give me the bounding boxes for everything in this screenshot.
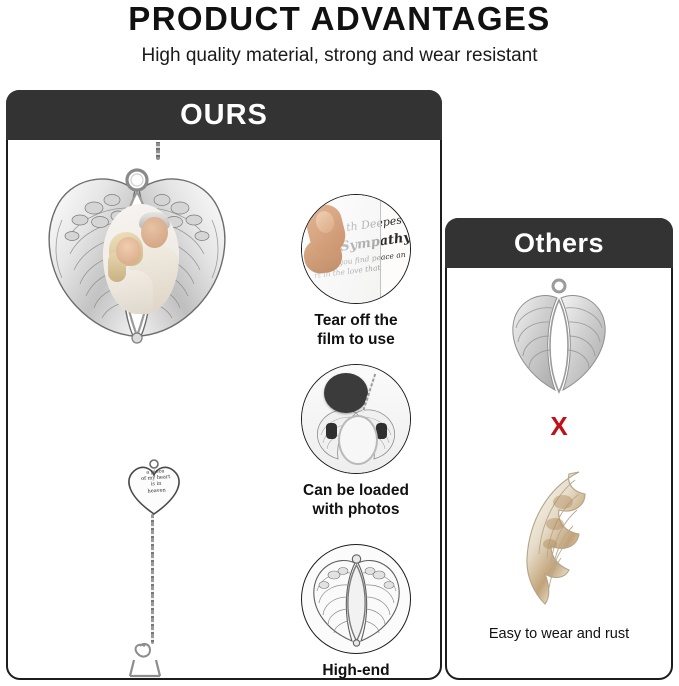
others-panel: Others [445, 218, 673, 680]
others-panel-label: Others [514, 228, 604, 259]
feature-silver-plating: High-end silver plating [270, 544, 440, 678]
x-mark-icon: X [447, 413, 671, 439]
feature-caption: Tear off the film to use [270, 311, 440, 349]
feature-tear-off-film: th Deepest Sympathy May you find peace a… [270, 194, 440, 349]
worn-rusted-single-wing [493, 466, 625, 616]
hand-peeling-film-photo: th Deepest Sympathy May you find peace a… [301, 194, 411, 304]
crystal-ball-prism [50, 640, 240, 678]
advertisement-canvas: PRODUCT ADVANTAGES High quality material… [0, 0, 679, 686]
others-item-rusted-wing: Easy to wear and rust [447, 466, 671, 643]
plain-angel-wings-pendant [495, 274, 623, 406]
page-title: PRODUCT ADVANTAGES [0, 2, 679, 36]
page-subtitle: High quality material, strong and wear r… [0, 44, 679, 68]
ours-panel-label: OURS [180, 99, 268, 132]
heart-charm [118, 458, 190, 516]
feature-caption: High-end silver plating [270, 661, 440, 678]
others-item-caption: Easy to wear and rust [447, 625, 671, 643]
feature-caption: Can be loaded with photos [270, 481, 440, 519]
feature-callouts: th Deepest Sympathy May you find peace a… [270, 142, 440, 678]
hanging-chain-icon [156, 142, 160, 160]
ours-panel-header: OURS [6, 90, 442, 140]
others-panel-body: X [447, 270, 671, 678]
others-panel-header: Others [445, 218, 673, 268]
ours-panel-body: a piece of my heart is in heaven [8, 142, 440, 678]
couple-photo [103, 204, 179, 314]
photo-disc-with-wings-photo [301, 364, 411, 474]
silver-plated-wings-lineart [301, 544, 411, 654]
ours-panel: OURS [6, 90, 442, 680]
link-chain-icon [151, 514, 154, 644]
others-item-wings-pendant: X [447, 274, 671, 439]
product-showcase: a piece of my heart is in heaven [8, 142, 270, 678]
feature-loaded-with-photos: Can be loaded with photos [270, 364, 440, 519]
